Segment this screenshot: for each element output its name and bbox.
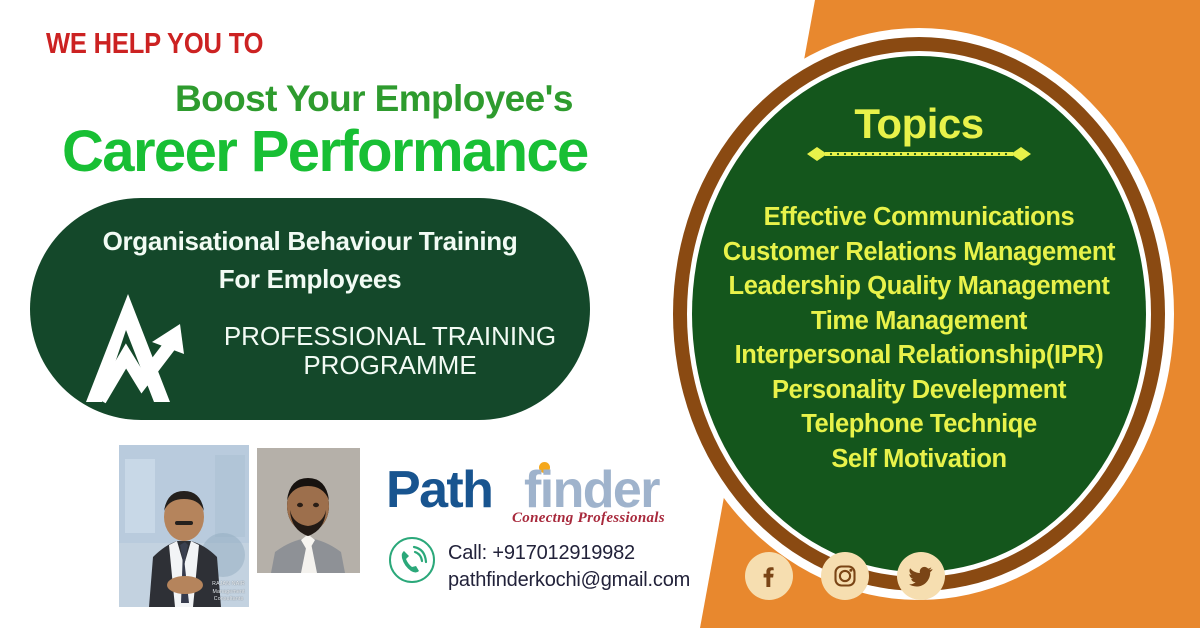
- topic-item: Personality Develepment: [672, 373, 1166, 408]
- training-pill-card: Organisational Behaviour Training For Em…: [30, 198, 590, 420]
- topic-item: Self Motivation: [672, 442, 1166, 477]
- topic-item: Telephone Techniqe: [672, 407, 1166, 442]
- topics-list: Effective Communications Customer Relati…: [672, 200, 1166, 476]
- social-links-row: [745, 552, 945, 600]
- topic-item: Time Management: [672, 304, 1166, 339]
- facebook-button[interactable]: [745, 552, 793, 600]
- contact-details: Call: +917012919982 pathfinderkochi@gmai…: [448, 540, 690, 594]
- portrait-rajan-nair: RAJAN NAIR Management Consultants: [119, 445, 249, 607]
- phone-number: Call: +917012919982: [448, 540, 690, 567]
- left-content-column: WE HELP YOU TO Boost Your Employee's Car…: [0, 0, 700, 628]
- email-address: pathfinderkochi@gmail.com: [448, 567, 690, 594]
- kicker-text: WE HELP YOU TO: [46, 28, 263, 61]
- twitter-button[interactable]: [897, 552, 945, 600]
- programme-label: PROFESSIONAL TRAINING PROGRAMME: [205, 322, 575, 380]
- topic-item: Interpersonal Relationship(IPR): [672, 338, 1166, 373]
- page-title: Career Performance: [62, 118, 588, 185]
- promotional-banner: WE HELP YOU TO Boost Your Employee's Car…: [0, 0, 1200, 628]
- photo-caption: RAJAN NAIR Management Consultants: [212, 581, 245, 603]
- sub-headline: Boost Your Employee's: [175, 78, 573, 120]
- brand-tagline: Conectng Professionals: [512, 510, 665, 527]
- facebook-icon: [754, 561, 784, 591]
- twitter-icon: [906, 561, 936, 591]
- topic-item: Customer Relations Management: [672, 235, 1166, 270]
- topics-title: Topics: [692, 100, 1146, 148]
- pill-title-line1: Organisational Behaviour Training: [30, 226, 590, 257]
- brand-name-part1: Path: [386, 460, 492, 520]
- topic-item: Leadership Quality Management: [672, 269, 1166, 304]
- arrow-growth-logo-icon: [82, 290, 202, 412]
- instagram-button[interactable]: [821, 552, 869, 600]
- beaded-divider-icon: [795, 145, 1043, 163]
- pathfinder-brand-block: Path finder Conectng Professionals Call:…: [386, 460, 686, 518]
- portrait-trainer-two: [257, 448, 360, 573]
- phone-ringing-icon: [388, 536, 436, 584]
- instagram-icon: [830, 561, 860, 591]
- topic-item: Effective Communications: [672, 200, 1166, 235]
